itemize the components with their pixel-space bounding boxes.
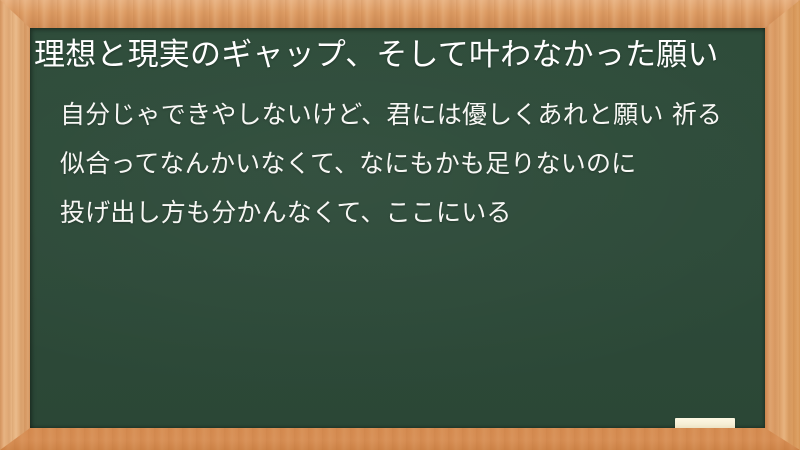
- board-content: 理想と現実のギャップ、そして叶わなかった願い 自分じゃできやしないけど、君には優…: [30, 28, 765, 231]
- wood-frame-top: [0, 0, 800, 28]
- chalk-stick: [675, 418, 735, 428]
- chalkboard-scene: 理想と現実のギャップ、そして叶わなかった願い 自分じゃできやしないけど、君には優…: [0, 0, 800, 450]
- board-line-1: 自分じゃできやしないけど、君には優しくあれと願い 祈る: [60, 97, 723, 133]
- board-line-3: 投げ出し方も分かんなくて、ここにいる: [60, 195, 723, 231]
- board-line-2: 似合ってなんかいなくて、なにもかも足りないのに: [60, 146, 723, 182]
- wood-frame-left: [0, 0, 30, 450]
- board-lines-list: 自分じゃできやしないけど、君には優しくあれと願い 祈る 似合ってなんかいなくて、…: [32, 97, 747, 231]
- board-title: 理想と現実のギャップ、そして叶わなかった願い: [32, 34, 747, 77]
- wood-frame-right: [765, 0, 800, 450]
- wood-frame-bottom: [0, 428, 800, 450]
- chalkboard-surface: 理想と現実のギャップ、そして叶わなかった願い 自分じゃできやしないけど、君には優…: [30, 28, 765, 428]
